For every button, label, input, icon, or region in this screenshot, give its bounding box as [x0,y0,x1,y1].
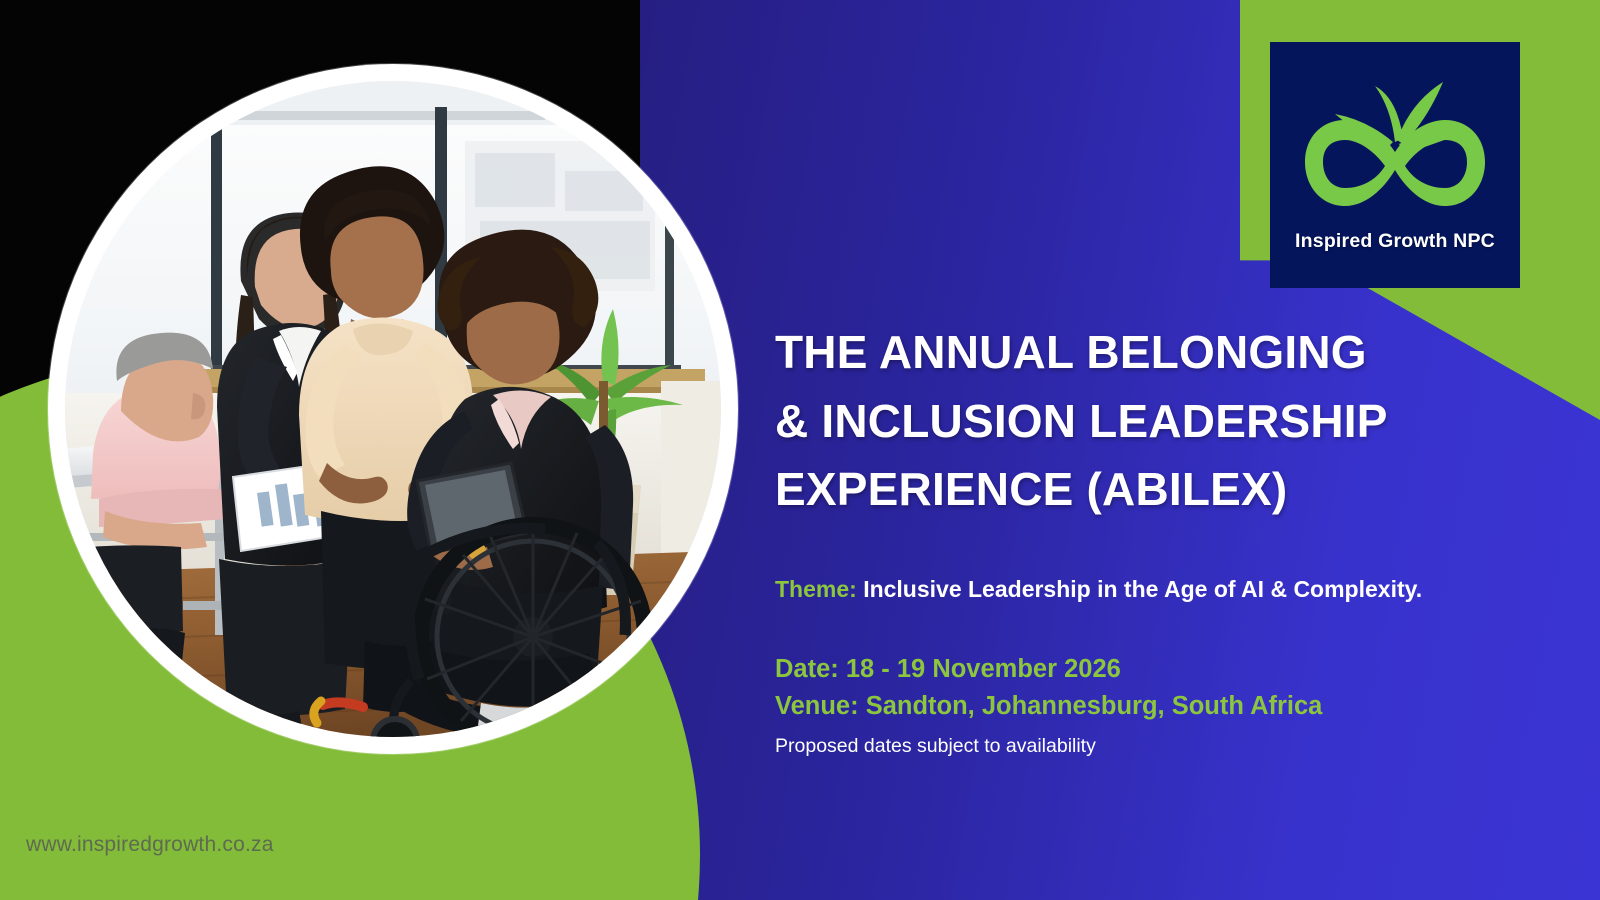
hero-photo-ring [48,64,738,754]
theme-row: Theme: Inclusive Leadership in the Age o… [775,574,1535,605]
title-line-3: EXPERIENCE (ABILEX) [775,455,1535,524]
date-venue-block: Date: 18 - 19 November 2026 Venue: Sandt… [775,651,1535,760]
brand-logo[interactable]: Inspired Growth NPC [1270,42,1520,288]
logo-wordmark: Inspired Growth NPC [1295,230,1495,253]
title-line-1: THE ANNUAL BELONGING [775,318,1535,387]
theme-label: Theme: [775,576,857,602]
office-meeting-illustration [65,81,721,737]
event-venue: Venue: Sandton, Johannesburg, South Afri… [775,688,1535,726]
theme-value: Inclusive Leadership in the Age of AI & … [863,576,1422,602]
website-url[interactable]: www.inspiredgrowth.co.za [26,833,274,857]
event-details: THE ANNUAL BELONGING & INCLUSION LEADERS… [775,318,1535,759]
page-title: THE ANNUAL BELONGING & INCLUSION LEADERS… [775,318,1535,524]
event-poster: Inspired Growth NPC THE ANNUAL BELONGING… [0,0,1600,900]
availability-note: Proposed dates subject to availability [775,734,1535,759]
title-line-2: & INCLUSION LEADERSHIP [775,387,1535,456]
hero-photo [65,81,721,737]
infinity-leaf-logo-icon [1295,56,1495,228]
event-date: Date: 18 - 19 November 2026 [775,651,1535,689]
